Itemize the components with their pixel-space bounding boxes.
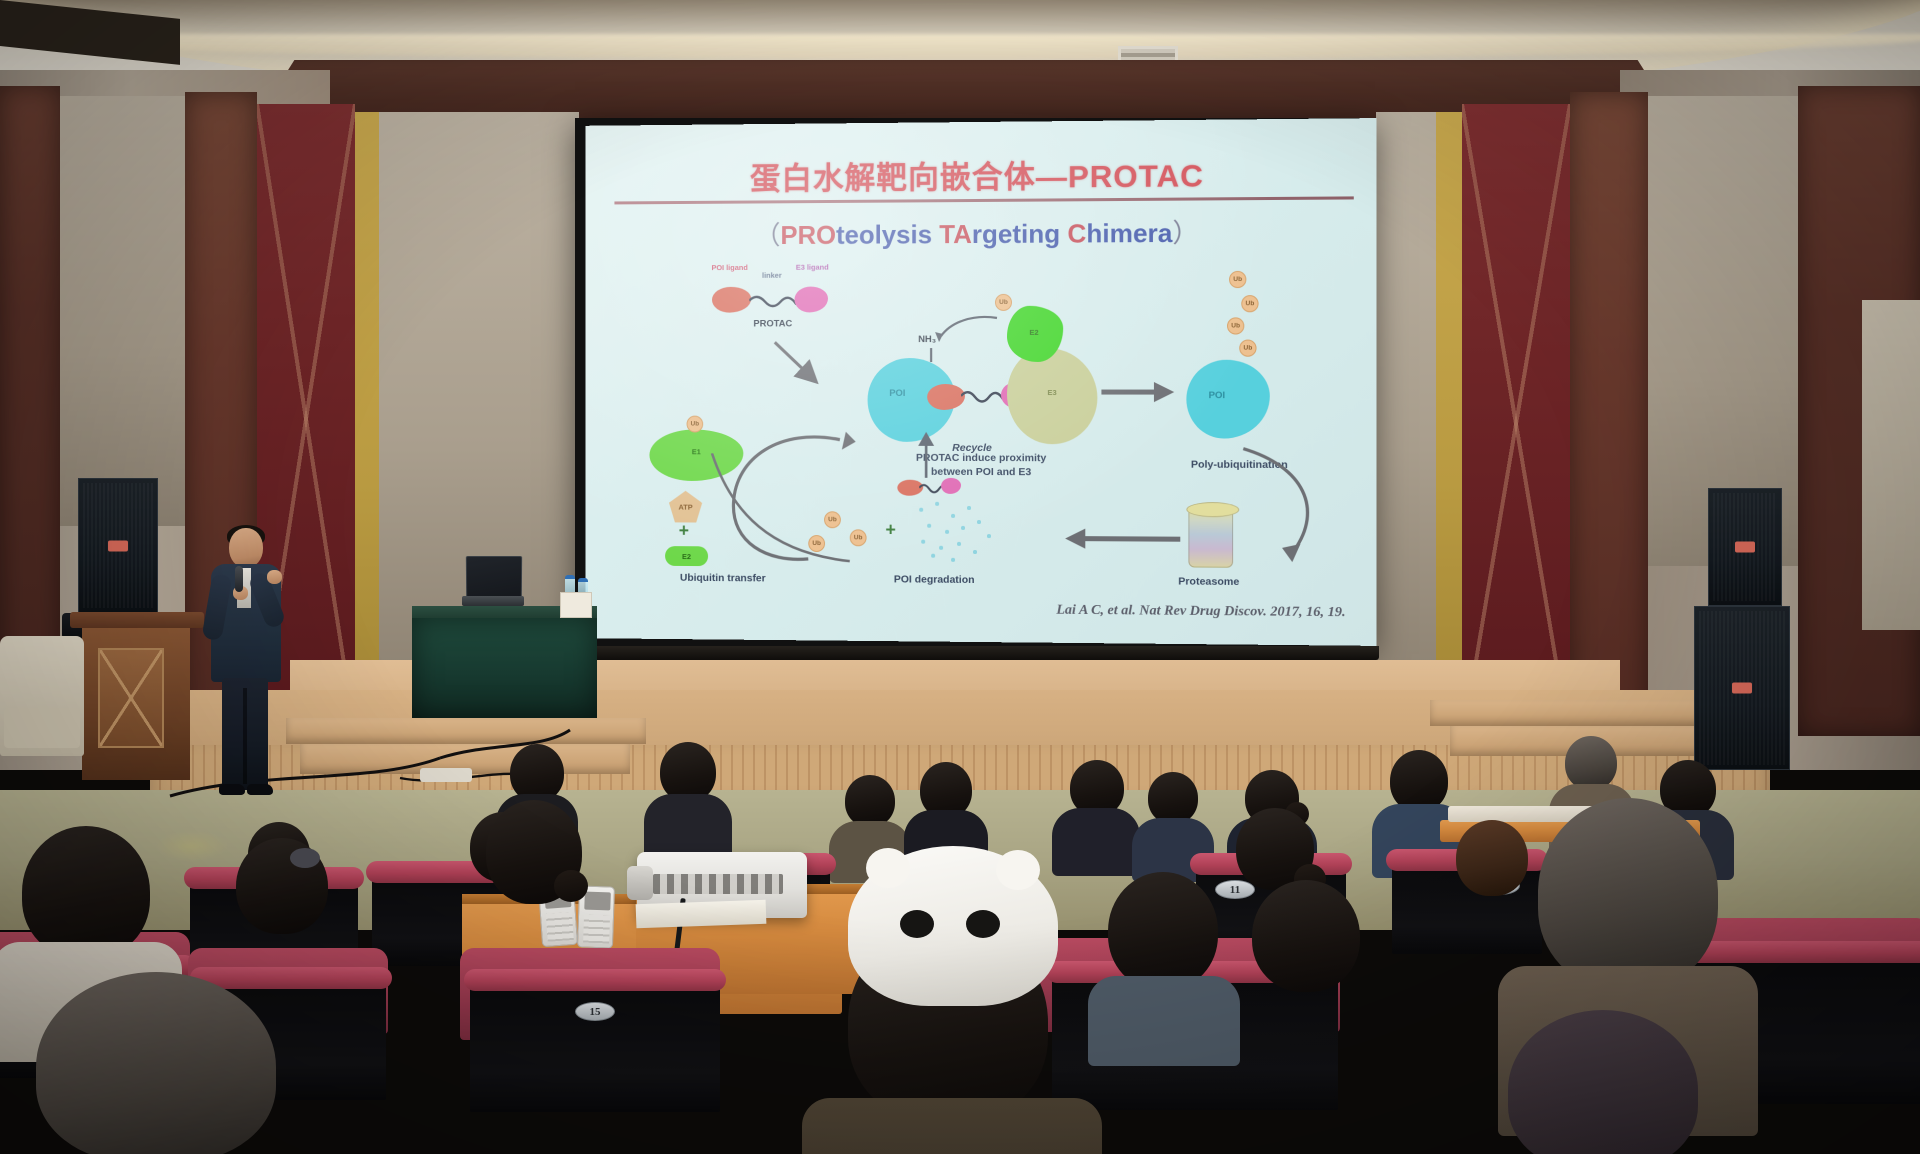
label-recycle: Recycle	[937, 442, 1007, 454]
wall-yellow-strip-left	[355, 112, 379, 732]
audience-head	[1390, 750, 1448, 812]
audience-hair-bun	[554, 870, 588, 902]
poi-ligand-bound	[927, 384, 965, 410]
lecture-hall-scene: 蛋白水解靶向嵌合体—PROTAC （PROteolysis TArgeting …	[0, 0, 1920, 1154]
audience-head	[36, 972, 276, 1154]
linker-squiggle	[749, 293, 798, 315]
audience-head	[660, 742, 716, 802]
seat-headrest	[464, 969, 726, 991]
seat-number-badge: 11	[1215, 880, 1255, 899]
linker-bound	[961, 388, 1005, 410]
plus-sign-atp: +	[679, 520, 689, 541]
speaker-brand-badge	[108, 540, 128, 551]
recycled-e3-ligand	[941, 478, 961, 494]
laptop-screen[interactable]	[466, 556, 522, 598]
ubiquitin-chain-2: Ub	[1241, 295, 1258, 312]
slide-title: 蛋白水解靶向嵌合体—PROTAC	[585, 149, 1376, 200]
panda-eye-left	[900, 910, 934, 938]
ubiquitin-e1: Ub	[687, 416, 704, 433]
subtitle-ta: TA	[939, 219, 972, 249]
remote-keypad	[546, 912, 574, 942]
presenter-trousers	[222, 678, 268, 790]
label-protac: PROTAC	[734, 318, 813, 329]
stage-step-right-upper	[1430, 700, 1730, 726]
label-e2-top: E2	[1019, 328, 1049, 337]
remote-keypad	[583, 915, 610, 944]
label-e3: E3	[1037, 388, 1067, 397]
presenter-person	[205, 528, 285, 798]
wall-panel-left	[60, 96, 185, 526]
stage-chair	[0, 636, 84, 756]
subtitle-close-paren: ）	[1172, 218, 1198, 248]
plus-sign-degradation: +	[885, 520, 895, 541]
poi-ligand-blob	[712, 287, 751, 313]
power-strip	[420, 768, 472, 782]
arrow-to-polyub	[1101, 380, 1176, 408]
panda-ear-left	[866, 848, 910, 888]
seat-number-badge: 15	[575, 1002, 615, 1021]
subtitle-teolysis: teolysis	[836, 219, 939, 249]
seat-headrest	[190, 967, 392, 989]
wall-wood-column-left	[0, 86, 60, 726]
free-ubiquitin-3: Ub	[850, 529, 867, 546]
subtitle-rgeting: rgeting	[972, 218, 1068, 249]
projector-lens	[627, 866, 653, 900]
audience-hair-clip	[290, 848, 320, 868]
free-ubiquitin-2: Ub	[808, 535, 825, 552]
audio-speaker-left	[78, 478, 158, 613]
proteasome-barrel	[1188, 507, 1233, 568]
presenter-shoe-right	[247, 784, 273, 795]
wall-yellow-strip-right	[1436, 112, 1462, 732]
speaker-brand-badge	[1735, 542, 1755, 553]
subtitle-pro: PRO	[780, 220, 836, 250]
foreground-seat-back-15[interactable]: 15	[470, 982, 720, 1112]
podium-top	[70, 612, 204, 628]
presenter-gesture-hand	[267, 570, 282, 584]
label-atp: ATP	[679, 502, 693, 511]
handheld-microphone	[235, 566, 243, 592]
audience-body	[802, 1098, 1102, 1154]
laptop-keyboard[interactable]	[462, 596, 524, 606]
audience-head	[1565, 736, 1617, 790]
label-linker: linker	[755, 271, 788, 280]
table-sign-card	[560, 592, 592, 618]
wall-panel-far-right	[1862, 300, 1920, 630]
label-proximity-line2: between POI and E3	[881, 466, 1081, 479]
audience-head	[1538, 798, 1718, 988]
label-e3-ligand: E3 ligand	[793, 263, 832, 272]
slide-subtitle: （PROteolysis TArgeting Chimera）	[585, 211, 1376, 252]
audience-head	[1456, 820, 1528, 896]
subtitle-himera: himera	[1086, 218, 1172, 249]
slide-citation: Lai A C, et al. Nat Rev Drug Discov. 201…	[1056, 603, 1345, 622]
presenter-head	[229, 528, 263, 568]
free-ubiquitin-1: Ub	[824, 511, 841, 528]
audience-head	[845, 775, 895, 827]
subtitle-c: C	[1067, 218, 1086, 248]
recycle-arrow	[915, 432, 937, 480]
protac-cycle-diagram: POI ligand linker E3 ligand PROTAC	[614, 260, 1353, 595]
label-poi-degradation: POI degradation	[860, 573, 1009, 586]
presenter-shoe-left	[219, 784, 245, 795]
label-e2-small: E2	[682, 552, 691, 561]
audio-speaker-right-lower	[1694, 606, 1790, 770]
ubiquitin-chain-1: Ub	[1229, 271, 1246, 288]
ubiquitin-top: Ub	[995, 294, 1012, 311]
audience-head	[1252, 880, 1360, 992]
panda-eye-right	[966, 910, 1000, 938]
audience-head	[22, 826, 150, 958]
panda-ear-right	[996, 850, 1040, 890]
audience-body	[1052, 808, 1140, 876]
audience-head	[1148, 772, 1198, 824]
paper-documents	[636, 900, 767, 929]
audience-body	[1088, 976, 1240, 1066]
slide-surface: 蛋白水解靶向嵌合体—PROTAC （PROteolysis TArgeting …	[585, 118, 1376, 646]
label-poi-right: POI	[1197, 390, 1238, 401]
subtitle-open-paren: （	[755, 220, 781, 250]
screen-bottom-bar	[571, 646, 1379, 660]
degraded-peptide-dots	[913, 500, 1003, 560]
projector-ports	[653, 874, 783, 894]
speaker-brand-badge	[1732, 683, 1752, 694]
audience-head	[1108, 872, 1218, 990]
e3-ligand-blob	[794, 287, 828, 313]
audio-speaker-right-upper	[1708, 488, 1782, 606]
arrow-proteasome-to-degradation	[1061, 526, 1184, 553]
label-ubiquitin-transfer: Ubiquitin transfer	[649, 572, 796, 585]
projection-screen: 蛋白水解靶向嵌合体—PROTAC （PROteolysis TArgeting …	[575, 118, 1375, 646]
label-nh3: NH₃	[909, 334, 945, 345]
remote-display	[584, 892, 611, 911]
wall-red-panel-right	[1462, 104, 1570, 744]
label-poi-ligand: POI ligand	[710, 263, 749, 272]
ubiquitin-chain-4: Ub	[1239, 340, 1256, 357]
ubiquitin-chain-3: Ub	[1227, 317, 1244, 334]
label-proteasome: Proteasome	[1148, 575, 1270, 588]
label-poi: POI	[877, 388, 917, 399]
wall-beige-right	[1376, 112, 1436, 672]
